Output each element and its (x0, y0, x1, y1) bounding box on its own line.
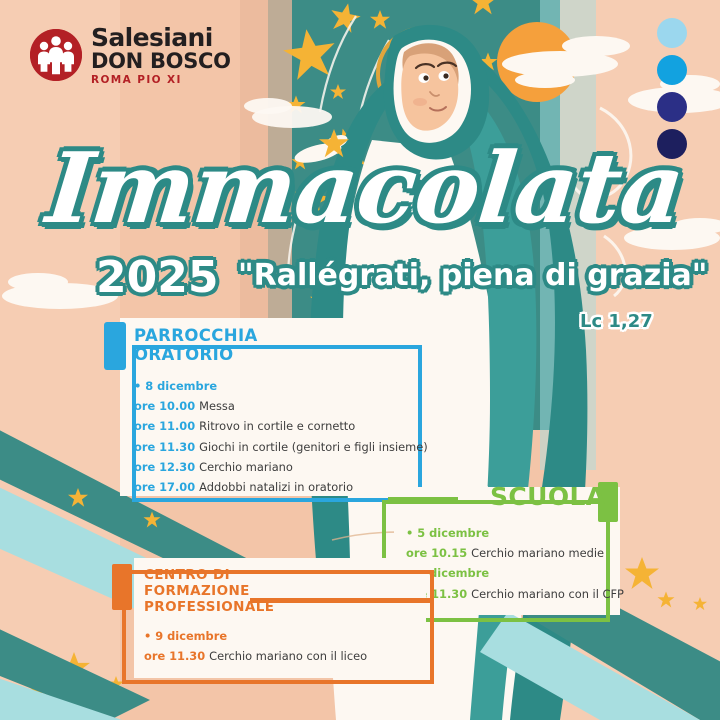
card-accent-tab (104, 322, 126, 370)
schedule-date: • 5 dicembre (406, 527, 624, 541)
schedule-date: • 9 dicembre (406, 567, 624, 581)
brand-line-1: Salesiani (91, 25, 231, 50)
schedule-time: ore 10.00 (134, 399, 199, 413)
salesiani-circle-logo-icon (30, 29, 82, 81)
card-title-line-1: CENTRO DI (144, 568, 274, 584)
schedule-item: ore 10.15 Cerchio mariano medie (406, 547, 624, 561)
dot-navy (657, 129, 687, 159)
schedule-item: ore 11.30 Cerchio mariano con il CFP (406, 588, 624, 602)
schedule-description: Cerchio mariano medie (471, 546, 604, 560)
card-title-line-1: SCUOLA (490, 482, 606, 511)
schedule-description: Messa (199, 399, 235, 413)
schedule-item: ore 12.30 Cerchio mariano (134, 461, 428, 475)
card-title-line-1: PARROCCHIA (134, 326, 258, 345)
card-rows-scuola: • 5 dicembreore 10.15 Cerchio mariano me… (406, 527, 624, 608)
brand-logo: Salesiani DON BOSCO ROMA PIO XI (30, 24, 231, 86)
brand-line-2: DON BOSCO (91, 51, 231, 72)
schedule-time: ore 11.00 (134, 419, 199, 433)
card-accent-rule (388, 497, 458, 502)
card-title-scuola: SCUOLA (490, 482, 606, 511)
schedule-time: ore 11.30 (134, 440, 199, 454)
schedule-description: Giochi in cortile (genitori e figli insi… (199, 440, 428, 454)
card-title-line-2: ORATORIO (134, 345, 258, 364)
dot-cyan (657, 55, 687, 85)
schedule-description: Cerchio mariano con il CFP (471, 587, 624, 601)
schedule-time: ore 12.30 (134, 460, 199, 474)
schedule-item: ore 11.30 Giochi in cortile (genitori e … (134, 441, 428, 455)
schedule-item: ore 11.00 Ritrovo in cortile e cornetto (134, 420, 428, 434)
schedule-description: Cerchio mariano (199, 460, 293, 474)
schedule-time: ore 17.00 (134, 480, 199, 494)
card-title-parrocchia: PARROCCHIA ORATORIO (134, 326, 258, 365)
card-title-line-3: PROFESSIONALE (144, 600, 274, 616)
schedule-date: • 9 dicembre (144, 630, 367, 644)
schedule-item: ore 11.30 Cerchio mariano con il liceo (144, 650, 367, 664)
brand-line-3: ROMA PIO XI (91, 75, 231, 86)
dot-indigo (657, 92, 687, 122)
schedule-description: Addobbi natalizi in oratorio (199, 480, 353, 494)
brand-logo-text: Salesiani DON BOSCO ROMA PIO XI (91, 24, 231, 86)
dot-light-blue (657, 18, 687, 48)
schedule-time: ore 11.30 (144, 649, 209, 663)
card-title-line-2: FORMAZIONE (144, 584, 274, 600)
schedule-description: Ritrovo in cortile e cornetto (199, 419, 355, 433)
color-dots-group (657, 18, 687, 166)
poster-canvas: Salesiani DON BOSCO ROMA PIO XI Immacola… (0, 0, 720, 720)
card-parrocchia-oratorio: PARROCCHIA ORATORIO • 8 dicembreore 10.0… (104, 318, 422, 502)
card-centro-formazione-professionale: CENTRO DI FORMAZIONE PROFESSIONALE • 9 d… (102, 558, 434, 684)
schedule-item: ore 10.00 Messa (134, 400, 428, 414)
card-accent-rule (250, 598, 434, 603)
card-accent-tab (112, 564, 132, 610)
schedule-description: Cerchio mariano con il liceo (209, 649, 367, 663)
schedule-date: • 8 dicembre (134, 380, 428, 394)
card-title-cfp: CENTRO DI FORMAZIONE PROFESSIONALE (144, 568, 274, 615)
card-rows-cfp: • 9 dicembreore 11.30 Cerchio mariano co… (144, 630, 367, 670)
